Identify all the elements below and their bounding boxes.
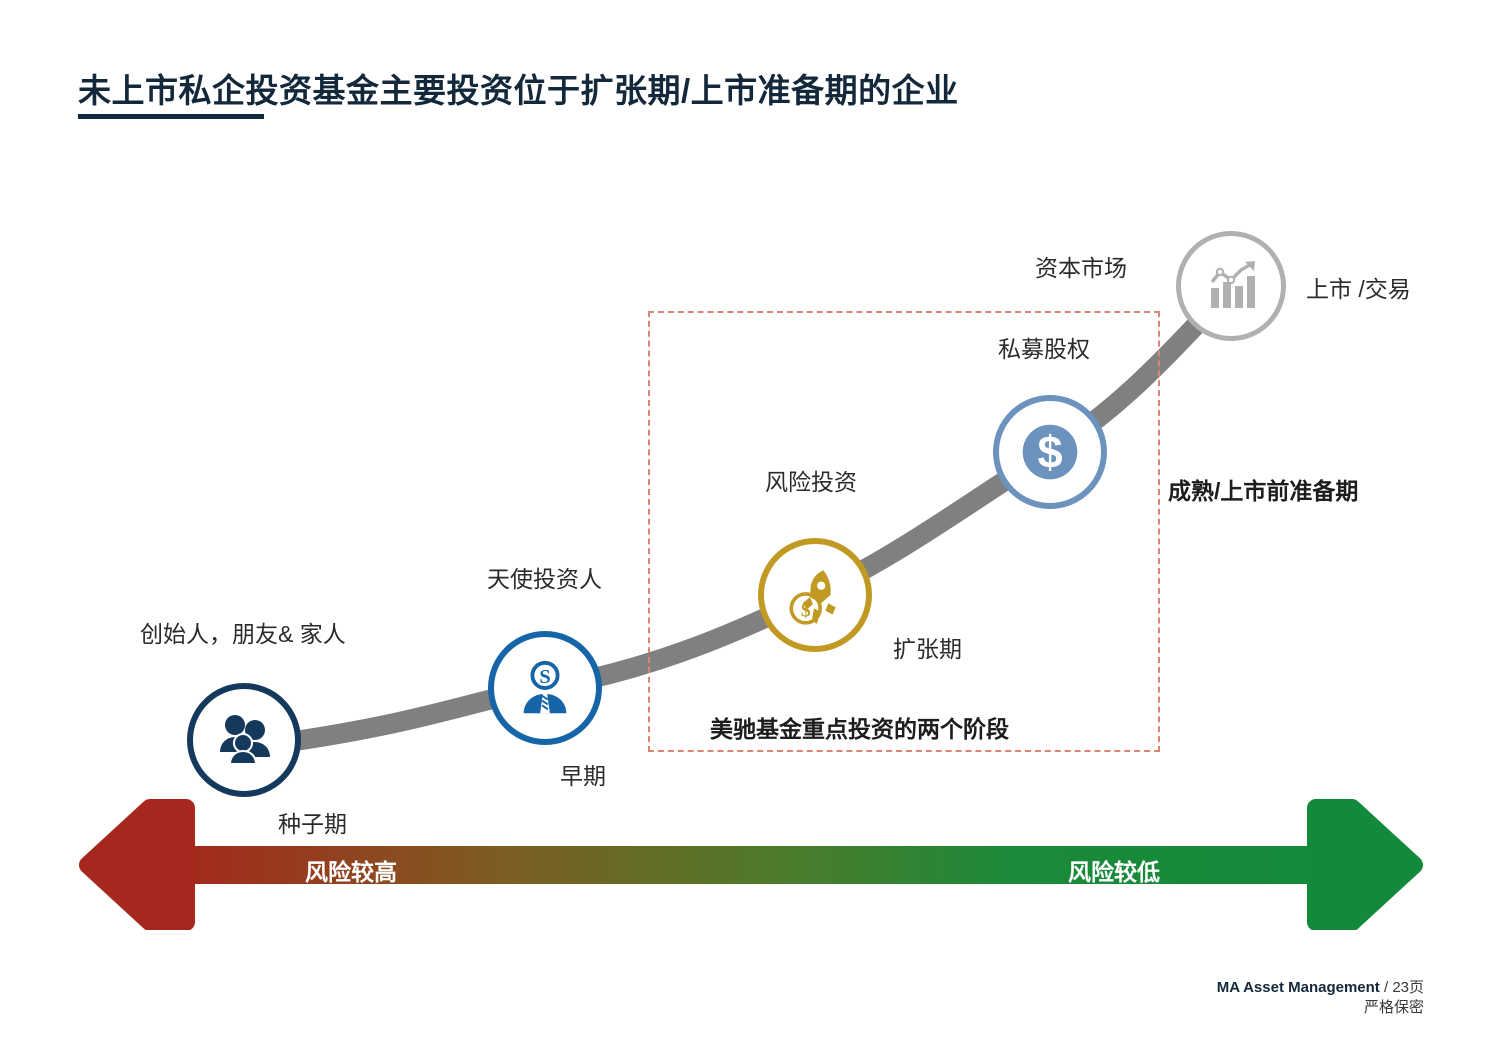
investor-label-mature: 私募股权 xyxy=(998,330,1090,364)
slide-footer: MA Asset Management / 23页 严格保密 xyxy=(1217,978,1424,1019)
stage-label-expansion: 扩张期 xyxy=(893,630,962,664)
svg-text:S: S xyxy=(539,666,550,688)
investor-label-expansion: 风险投资 xyxy=(765,463,857,497)
family-group-icon xyxy=(212,708,276,772)
focus-box-caption: 美驰基金重点投资的两个阶段 xyxy=(710,710,1009,744)
risk-arrow-right-head xyxy=(1316,808,1414,922)
dollar-coin-icon: $ xyxy=(1012,414,1088,490)
risk-high-label: 风险较高 xyxy=(305,853,397,887)
stage-node-ipo[interactable] xyxy=(1176,231,1286,341)
stage-label-ipo: 上市 /交易 xyxy=(1306,270,1411,304)
focus-highlight-box xyxy=(648,311,1160,752)
stage-node-mature[interactable]: $ xyxy=(993,395,1107,509)
svg-text:$: $ xyxy=(1037,426,1062,477)
investor-label-ipo: 资本市场 xyxy=(1035,249,1127,283)
growth-chart-icon xyxy=(1199,254,1263,318)
footer-page: / 23页 xyxy=(1380,979,1424,996)
lifecycle-diagram: 美驰基金重点投资的两个阶段 创始人，朋友& 家人 种子期 S xyxy=(0,0,1500,1038)
stage-node-seed[interactable] xyxy=(187,683,301,797)
footer-confidential: 严格保密 xyxy=(1217,998,1424,1018)
risk-low-label: 风险较低 xyxy=(1068,853,1160,887)
stage-label-early: 早期 xyxy=(560,757,606,791)
stage-node-early[interactable]: S xyxy=(488,631,602,745)
risk-arrow-left-head xyxy=(88,808,186,922)
footer-brand: MA Asset Management xyxy=(1217,979,1380,996)
businessman-dollar-icon: S xyxy=(514,657,576,719)
stage-label-mature: 成熟/上市前准备期 xyxy=(1168,472,1358,506)
investor-label-seed: 创始人，朋友& 家人 xyxy=(140,615,346,649)
risk-axis-arrow xyxy=(78,798,1424,930)
stage-node-expansion[interactable]: $ xyxy=(758,538,872,652)
svg-text:$: $ xyxy=(801,601,811,622)
investor-label-early: 天使投资人 xyxy=(487,560,602,594)
slide-canvas: 未上市私企投资基金主要投资位于扩张期/上市准备期的企业 美驰基金重点投资的两个阶… xyxy=(0,0,1500,1038)
rocket-coin-icon: $ xyxy=(782,562,848,628)
